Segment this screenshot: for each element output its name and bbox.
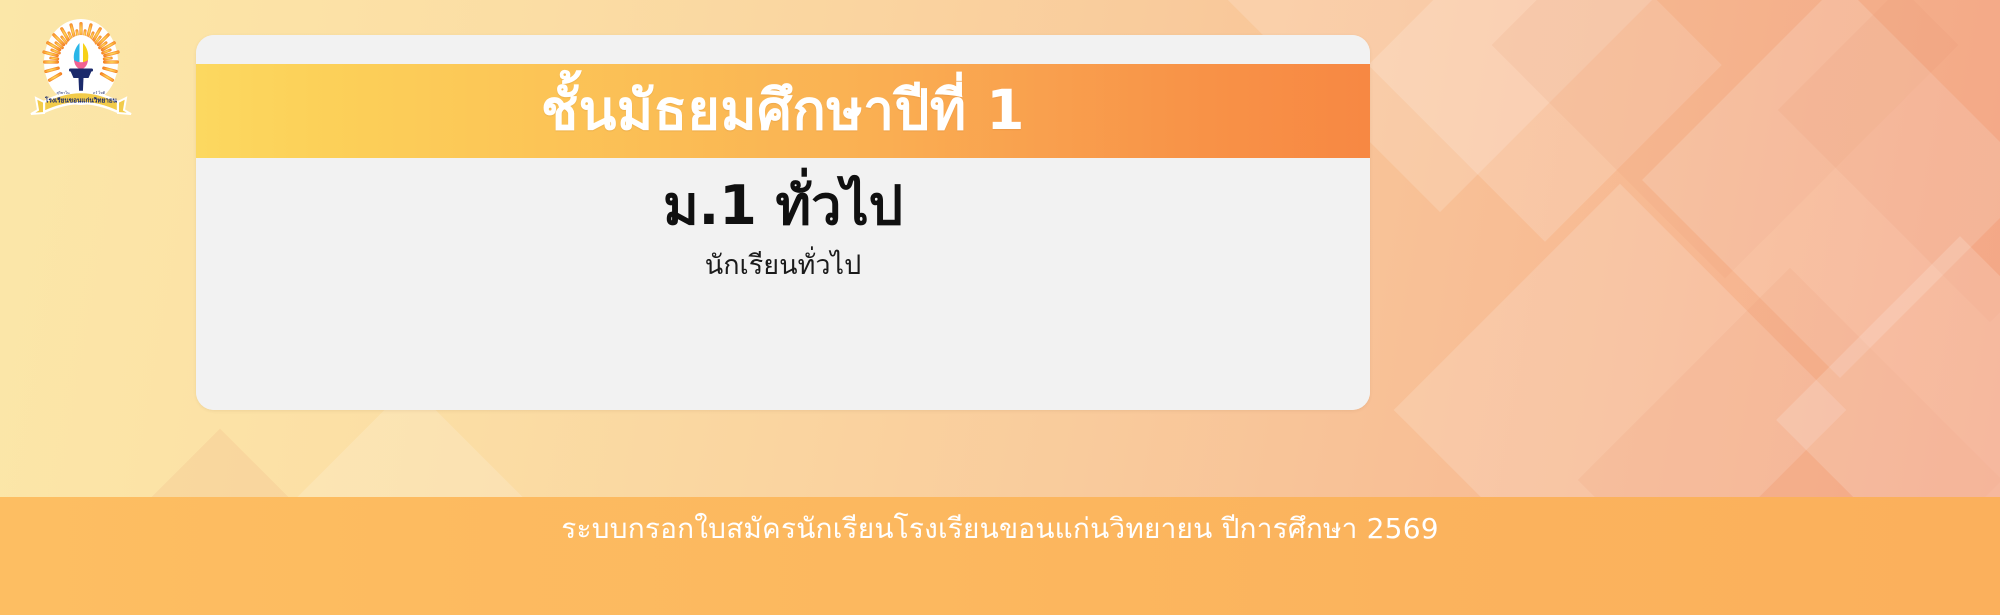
program-title: ม.1 ทั่วไป <box>196 172 1370 240</box>
program-subtitle: นักเรียนทั่วไป <box>196 246 1370 287</box>
page-footer: ระบบกรอกใบสมัครนักเรียนโรงเรียนขอนแก่นวิ… <box>0 442 2000 615</box>
footer-bar: ระบบกรอกใบสมัครนักเรียนโรงเรียนขอนแก่นวิ… <box>0 497 2000 615</box>
footer-text: ระบบกรอกใบสมัครนักเรียนโรงเรียนขอนแก่นวิ… <box>561 510 1438 548</box>
school-emblem-icon: โรงเรียนขอนแก่นวิทยายน สุวิชาโน ภวํ โหติ <box>22 14 140 126</box>
class-info-card: ชั้นมัธยมศึกษาปีที่ 1 ม.1 ทั่วไป นักเรีย… <box>196 35 1370 410</box>
chevron-watermark <box>1492 0 1959 278</box>
card-header-band: ชั้นมัธยมศึกษาปีที่ 1 <box>196 64 1370 158</box>
school-logo: โรงเรียนขอนแก่นวิทยายน สุวิชาโน ภวํ โหติ <box>22 14 140 126</box>
svg-text:โรงเรียนขอนแก่นวิทยายน: โรงเรียนขอนแก่นวิทยายน <box>44 96 118 105</box>
chevron-watermark <box>1778 0 2000 322</box>
card-header-title: ชั้นมัธยมศึกษาปีที่ 1 <box>541 82 1025 140</box>
chevron-watermark <box>1642 0 2000 378</box>
svg-text:ภวํ โหติ: ภวํ โหติ <box>93 90 106 95</box>
chevron-watermark <box>1368 0 1722 242</box>
card-top-spacer <box>196 35 1370 64</box>
card-body: ม.1 ทั่วไป นักเรียนทั่วไป <box>196 158 1370 410</box>
